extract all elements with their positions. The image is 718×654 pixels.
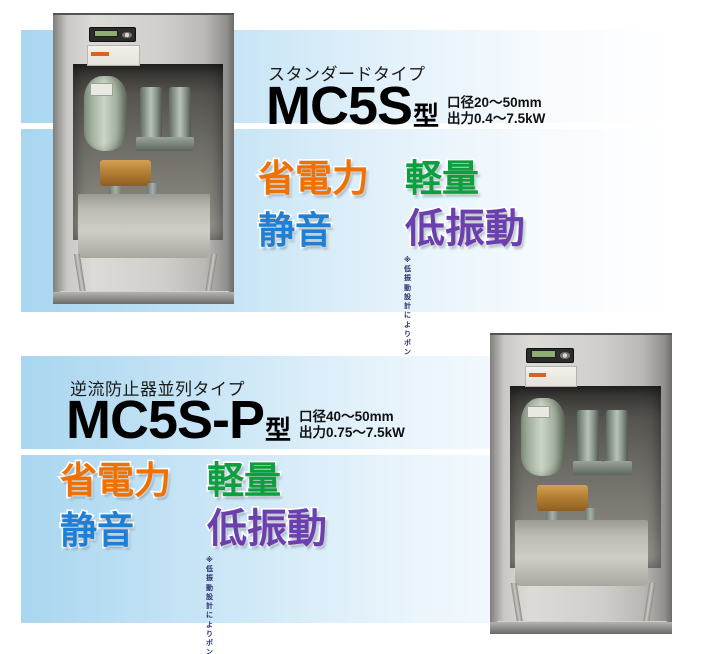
- spec-output-mc5s: 出力0.4〜7.5kW: [447, 111, 545, 126]
- model-name-mc5s-p: MC5S-P: [66, 396, 264, 446]
- footnote-low-vibration-mc5s-p: ※低振動設計によりポンプ 振動伝搬を大幅低減: [206, 556, 213, 654]
- model-suffix-mc5s-p: 型: [265, 417, 291, 446]
- model-row-mc5s: MC5S 型 口径20〜50mm 出力0.4〜7.5kW: [266, 82, 545, 132]
- brass-valve: [100, 160, 151, 186]
- brass-valve: [537, 485, 588, 512]
- pressure-tank: [84, 76, 127, 151]
- pump-motor-2: [169, 87, 191, 139]
- product-catalog-page: スタンダードタイプ MC5S 型 口径20〜50mm 出力0.4〜7.5kW 省…: [0, 0, 718, 654]
- pump-motor-1: [140, 87, 162, 139]
- spec-bore-mc5s: 口径20〜50mm: [447, 95, 542, 110]
- spec-plate: [525, 366, 578, 387]
- feature-quiet-mc5s: 静音: [258, 212, 332, 249]
- model-suffix-mc5s: 型: [413, 103, 439, 132]
- drain-basin: [78, 194, 210, 258]
- drain-basin: [515, 520, 648, 586]
- spec-block-mc5s: 口径20〜50mm 出力0.4〜7.5kW: [447, 95, 545, 132]
- spec-block-mc5s-p: 口径40〜50mm 出力0.75〜7.5kW: [299, 409, 405, 446]
- control-panel-icon: [89, 27, 136, 42]
- feature-lightweight-mc5s: 軽量: [405, 160, 479, 197]
- control-panel-icon: [526, 348, 573, 364]
- feature-low-vibration-mc5s-p: 低振動: [207, 509, 327, 549]
- pressure-tank: [521, 398, 565, 476]
- feature-lightweight-mc5s-p: 軽量: [207, 462, 281, 499]
- base-frame: [497, 621, 666, 634]
- product-photo-mc5s: [53, 13, 234, 304]
- support-legs: [505, 588, 662, 630]
- cabinet-body: [53, 13, 234, 304]
- model-name-mc5s: MC5S: [266, 82, 412, 132]
- pump-motor-2: [606, 410, 628, 464]
- feature-power-saving-mc5s: 省電力: [258, 160, 369, 197]
- pump-motor-1: [577, 410, 599, 464]
- base-frame: [60, 291, 228, 304]
- spec-output-mc5s-p: 出力0.75〜7.5kW: [299, 425, 405, 440]
- spec-plate: [87, 45, 139, 65]
- cabinet-body: [490, 333, 672, 634]
- support-legs: [67, 259, 223, 299]
- product-photo-mc5s-p: [490, 333, 672, 634]
- feature-low-vibration-mc5s: 低振動: [405, 209, 525, 249]
- feature-quiet-mc5s-p: 静音: [60, 512, 134, 549]
- model-row-mc5s-p: MC5S-P 型 口径40〜50mm 出力0.75〜7.5kW: [66, 396, 405, 446]
- feature-power-saving-mc5s-p: 省電力: [60, 462, 171, 499]
- spec-bore-mc5s-p: 口径40〜50mm: [299, 409, 394, 424]
